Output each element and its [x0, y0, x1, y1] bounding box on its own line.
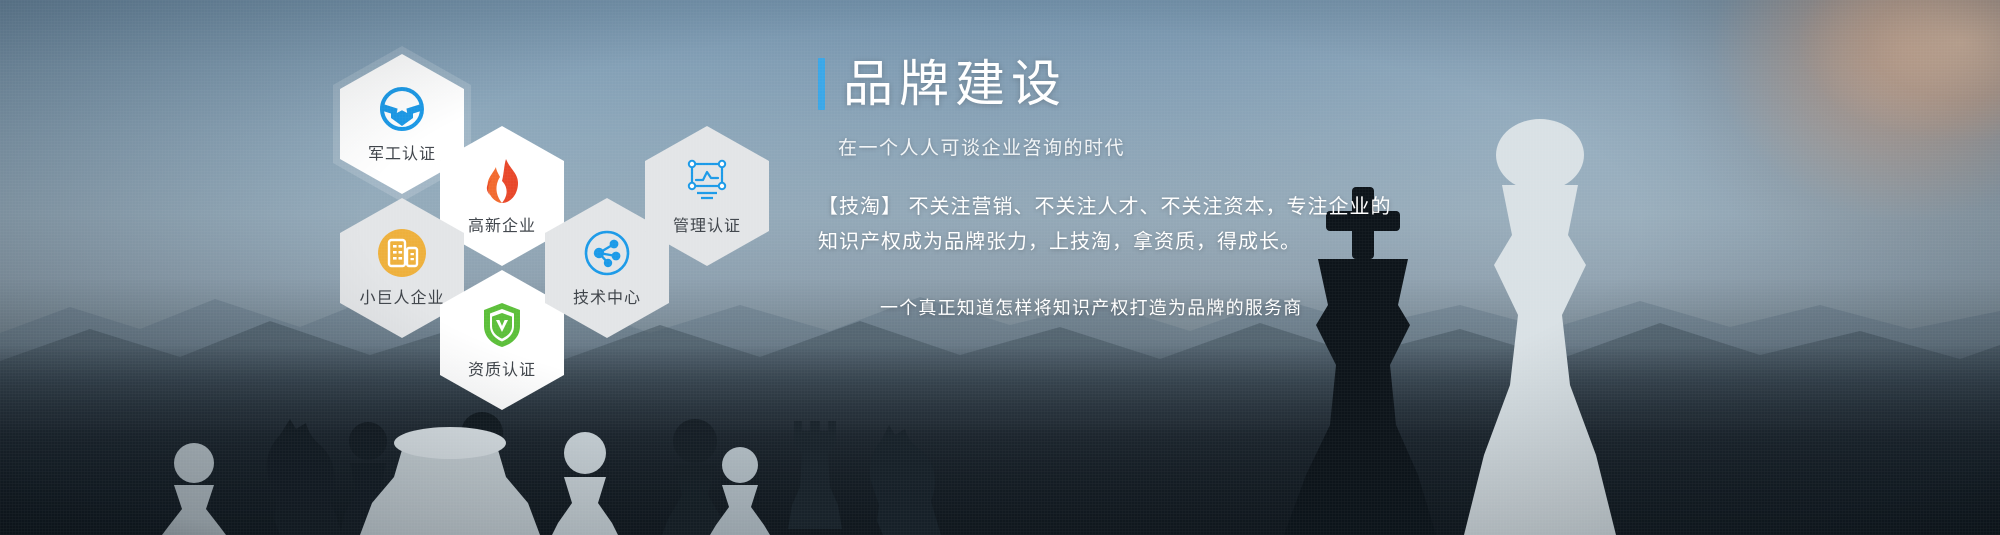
chess-piece-pawn-dark-a [330, 415, 406, 535]
flame-icon [477, 156, 527, 206]
chess-piece-pawn-dark-c [650, 415, 740, 535]
brand-building-banner: 军工认证 高新企业 [0, 0, 2000, 535]
badge-label: 资质认证 [468, 356, 536, 380]
banner-copy-block: 品牌建设 在一个人人可谈企业咨询的时代 【技淘】 不关注营销、不关注人才、不关注… [818, 58, 1518, 320]
badge-label: 高新企业 [468, 212, 536, 236]
badge-label: 小巨人企业 [359, 284, 444, 308]
foreground-ground [0, 345, 2000, 535]
molecule-icon [582, 228, 632, 278]
chess-piece-pawn-light-c [700, 443, 780, 535]
badge-label: 技术中心 [573, 284, 641, 308]
badge-label: 军工认证 [368, 140, 436, 164]
buildings-icon [377, 228, 427, 278]
chess-piece-pawn-light-b [540, 427, 630, 535]
banner-paragraph: 【技淘】 不关注营销、不关注人才、不关注资本，专注企业的知识产权成为品牌张力，上… [818, 190, 1398, 260]
certification-badge-cluster: 军工认证 高新企业 [300, 40, 770, 340]
banner-subtitle: 在一个人人可谈企业咨询的时代 [838, 133, 1518, 160]
military-shield-star-icon [377, 84, 427, 134]
shield-check-icon [477, 300, 527, 350]
page-title: 品牌建设 [843, 58, 1067, 111]
chess-piece-king-light-center [300, 385, 600, 535]
chart-frame-icon [682, 156, 732, 206]
chess-piece-pawn-dark-b [440, 405, 524, 535]
chess-piece-pawn-light-a [150, 439, 238, 535]
hand-holding-piece [1670, 0, 2000, 260]
title-row: 品牌建设 [818, 58, 1518, 111]
chess-piece-knight-dark-right [855, 415, 955, 535]
accent-bar [818, 58, 825, 110]
chess-piece-knight-dark-left [250, 405, 360, 535]
badge-label: 管理认证 [673, 212, 741, 236]
banner-tagline: 一个真正知道怎样将知识产权打造为品牌的服务商 [880, 294, 1518, 320]
fingers-detail [1800, 0, 2000, 140]
chess-piece-rook-dark [780, 413, 850, 529]
